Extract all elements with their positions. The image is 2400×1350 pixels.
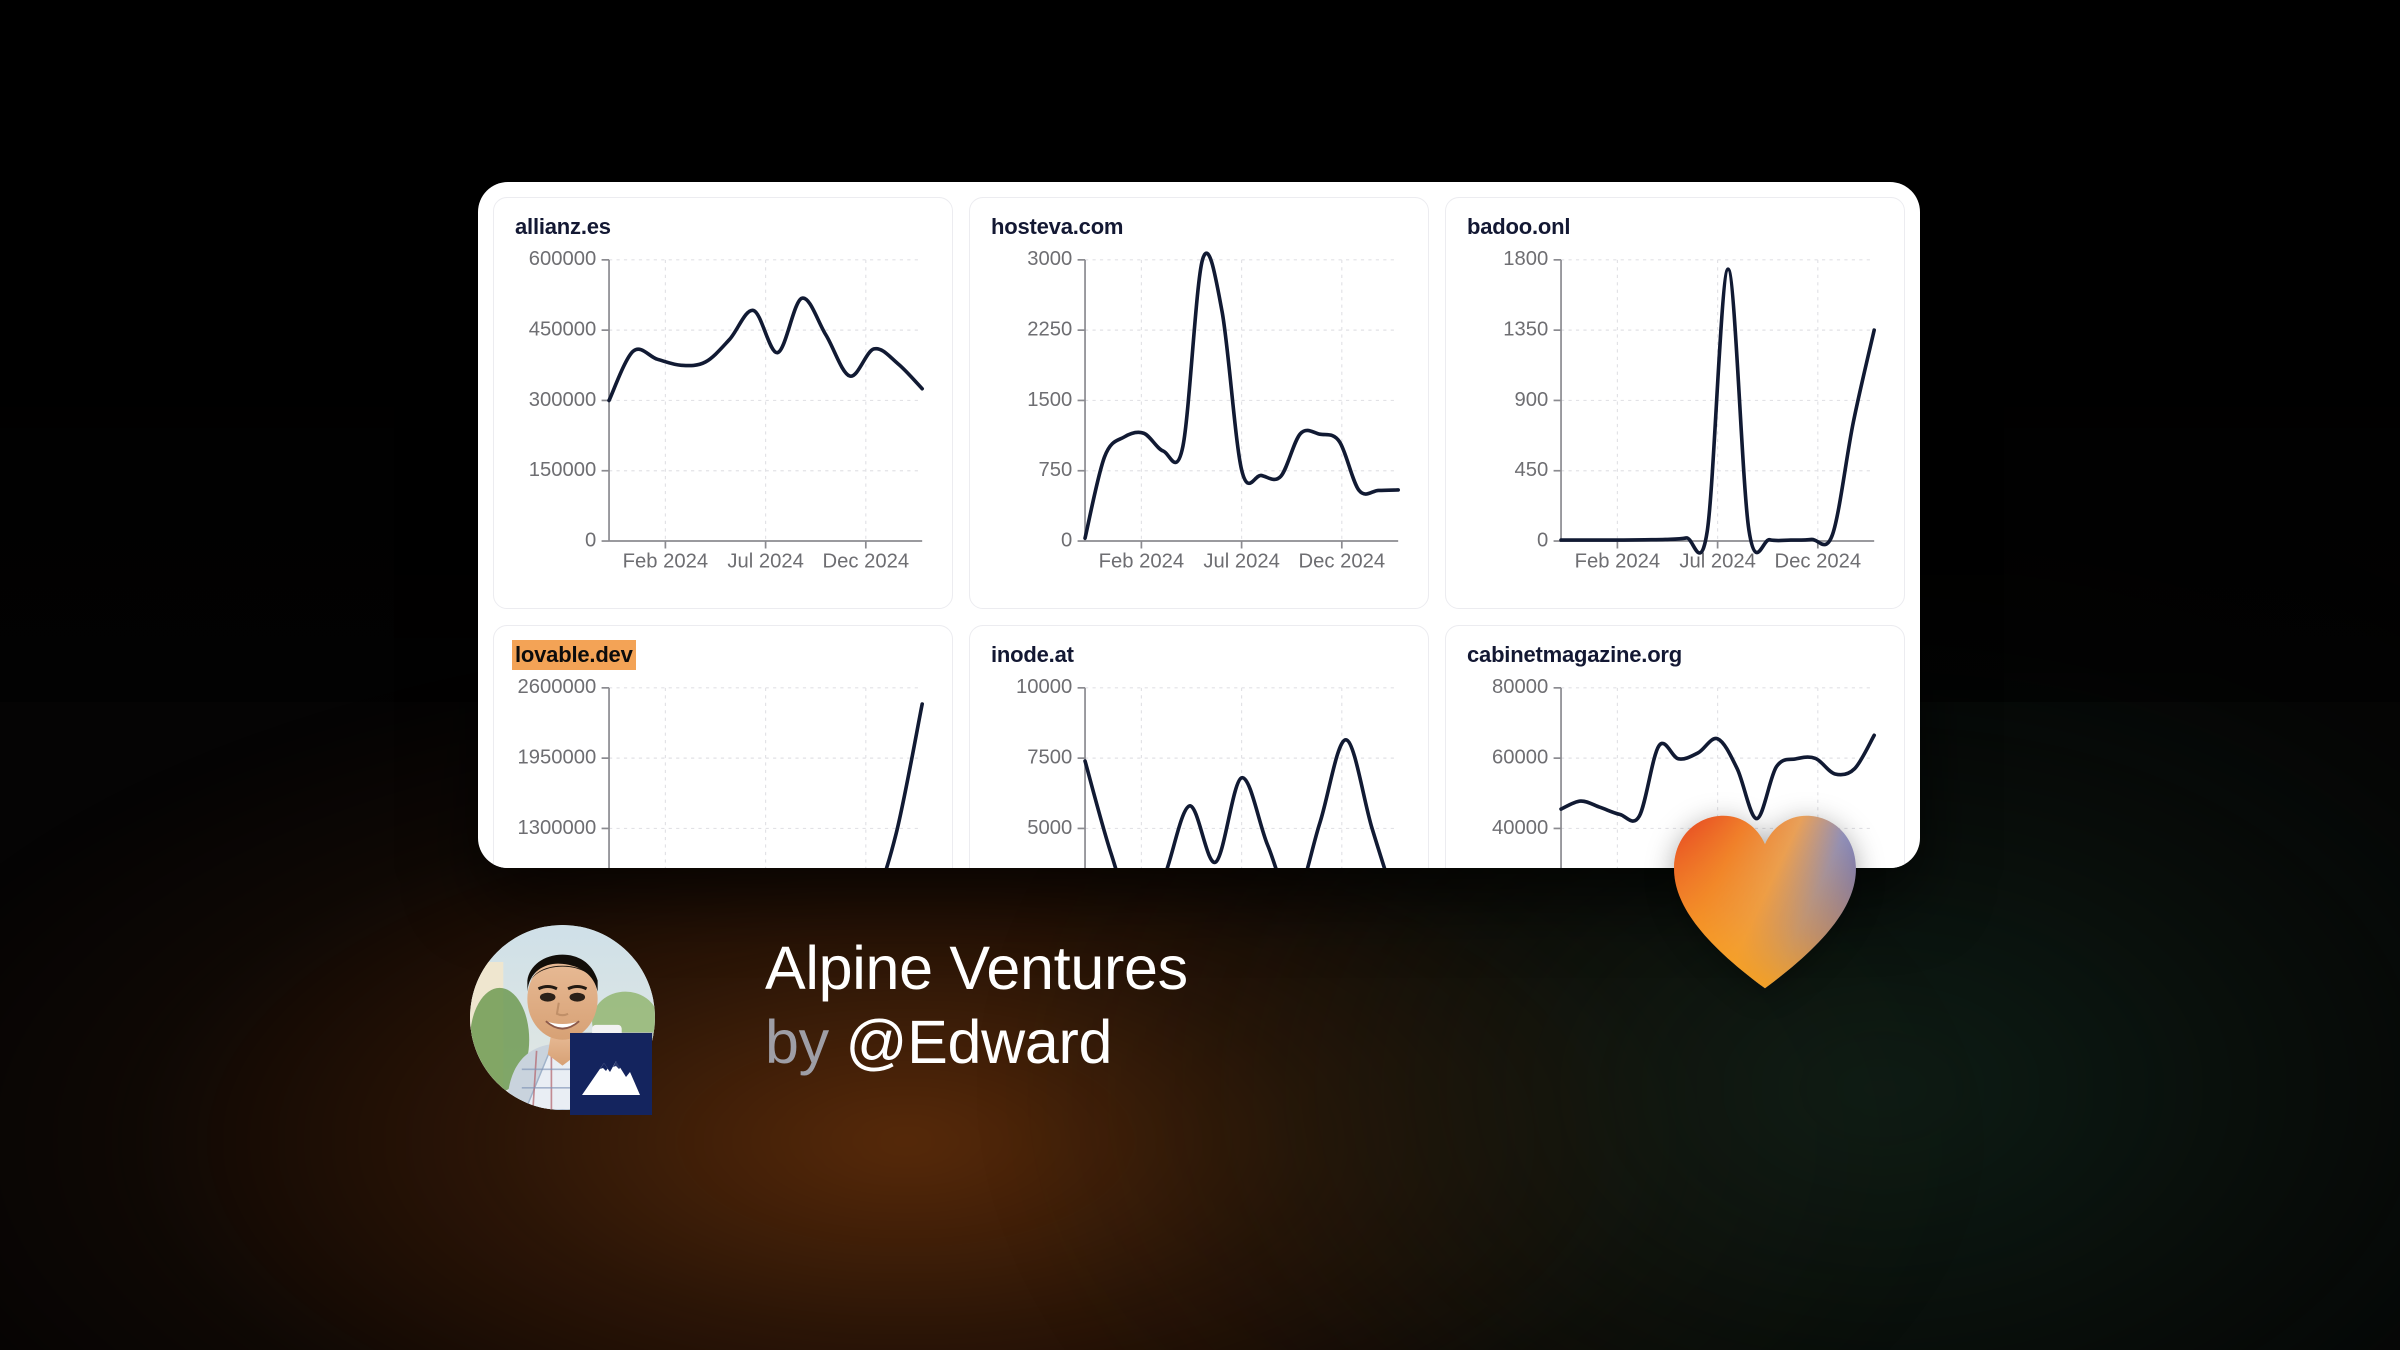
svg-text:0: 0 <box>585 529 596 551</box>
svg-text:Dec 2024: Dec 2024 <box>823 550 910 572</box>
svg-text:450000: 450000 <box>529 318 596 340</box>
svg-text:80000: 80000 <box>1492 676 1548 698</box>
svg-text:40000: 40000 <box>1492 817 1548 839</box>
svg-text:Dec 2024: Dec 2024 <box>1775 550 1862 572</box>
mountain-logo-icon <box>570 1033 652 1115</box>
chart-plot: 045090013501800Feb 2024Jul 2024Dec 2024 <box>1446 244 1904 608</box>
author-handle: @Edward <box>845 1008 1112 1076</box>
chart-title: inode.at <box>988 640 1077 670</box>
gradient-heart-icon <box>1670 812 1860 992</box>
svg-text:1350: 1350 <box>1503 318 1548 340</box>
svg-text:300000: 300000 <box>529 389 596 411</box>
svg-text:Jul 2024: Jul 2024 <box>1203 550 1279 572</box>
svg-text:450: 450 <box>1515 459 1549 481</box>
chart-card[interactable]: badoo.onl045090013501800Feb 2024Jul 2024… <box>1445 197 1905 609</box>
avatar <box>470 925 655 1110</box>
svg-text:750: 750 <box>1039 459 1073 481</box>
svg-text:1500: 1500 <box>1027 389 1072 411</box>
svg-text:7500: 7500 <box>1027 746 1072 768</box>
dashboard-card: allianz.es0150000300000450000600000Feb 2… <box>478 182 1920 868</box>
svg-text:600000: 600000 <box>529 248 596 270</box>
svg-text:Jul 2024: Jul 2024 <box>727 550 803 572</box>
svg-text:Dec 2024: Dec 2024 <box>1299 550 1386 572</box>
byline-text: Alpine Ventures by @Edward <box>765 925 1188 1080</box>
chart-card[interactable]: allianz.es0150000300000450000600000Feb 2… <box>493 197 953 609</box>
chart-series-line <box>1561 269 1874 553</box>
author-row: by @Edward <box>765 1005 1188 1079</box>
chart-title: badoo.onl <box>1464 212 1573 242</box>
svg-text:Feb 2024: Feb 2024 <box>1575 550 1660 572</box>
org-name: Alpine Ventures <box>765 931 1188 1005</box>
by-label: by <box>765 1008 829 1076</box>
chart-card[interactable]: hosteva.com0750150022503000Feb 2024Jul 2… <box>969 197 1429 609</box>
svg-text:60000: 60000 <box>1492 746 1548 768</box>
chart-card[interactable]: inode.at25005000750010000Feb 2024Jul 202… <box>969 625 1429 868</box>
svg-text:0: 0 <box>1537 529 1548 551</box>
svg-text:10000: 10000 <box>1016 676 1072 698</box>
chart-title: hosteva.com <box>988 212 1126 242</box>
svg-text:1800: 1800 <box>1503 248 1548 270</box>
svg-text:900: 900 <box>1515 389 1549 411</box>
svg-text:2250: 2250 <box>1027 318 1072 340</box>
byline: Alpine Ventures by @Edward <box>470 925 1188 1110</box>
chart-plot: 0750150022503000Feb 2024Jul 2024Dec 2024 <box>970 244 1428 608</box>
chart-title: allianz.es <box>512 212 614 242</box>
chart-card[interactable]: lovable.dev650000130000019500002600000Fe… <box>493 625 953 868</box>
svg-text:Feb 2024: Feb 2024 <box>623 550 708 572</box>
svg-text:1300000: 1300000 <box>518 817 597 839</box>
chart-series-line <box>1085 740 1398 868</box>
chart-title: cabinetmagazine.org <box>1464 640 1685 670</box>
chart-grid: allianz.es0150000300000450000600000Feb 2… <box>478 182 1920 868</box>
chart-plot: 650000130000019500002600000Feb 2024Jul 2… <box>494 672 952 868</box>
svg-text:2600000: 2600000 <box>518 676 597 698</box>
chart-plot: 25005000750010000Feb 2024Jul 2024Dec 202… <box>970 672 1428 868</box>
svg-text:Jul 2024: Jul 2024 <box>1679 550 1755 572</box>
svg-text:0: 0 <box>1061 529 1072 551</box>
svg-text:3000: 3000 <box>1027 248 1072 270</box>
svg-text:1950000: 1950000 <box>518 746 597 768</box>
svg-text:150000: 150000 <box>529 459 596 481</box>
chart-title: lovable.dev <box>512 640 636 670</box>
svg-text:Feb 2024: Feb 2024 <box>1099 550 1184 572</box>
chart-plot: 0150000300000450000600000Feb 2024Jul 202… <box>494 244 952 608</box>
svg-text:5000: 5000 <box>1027 817 1072 839</box>
